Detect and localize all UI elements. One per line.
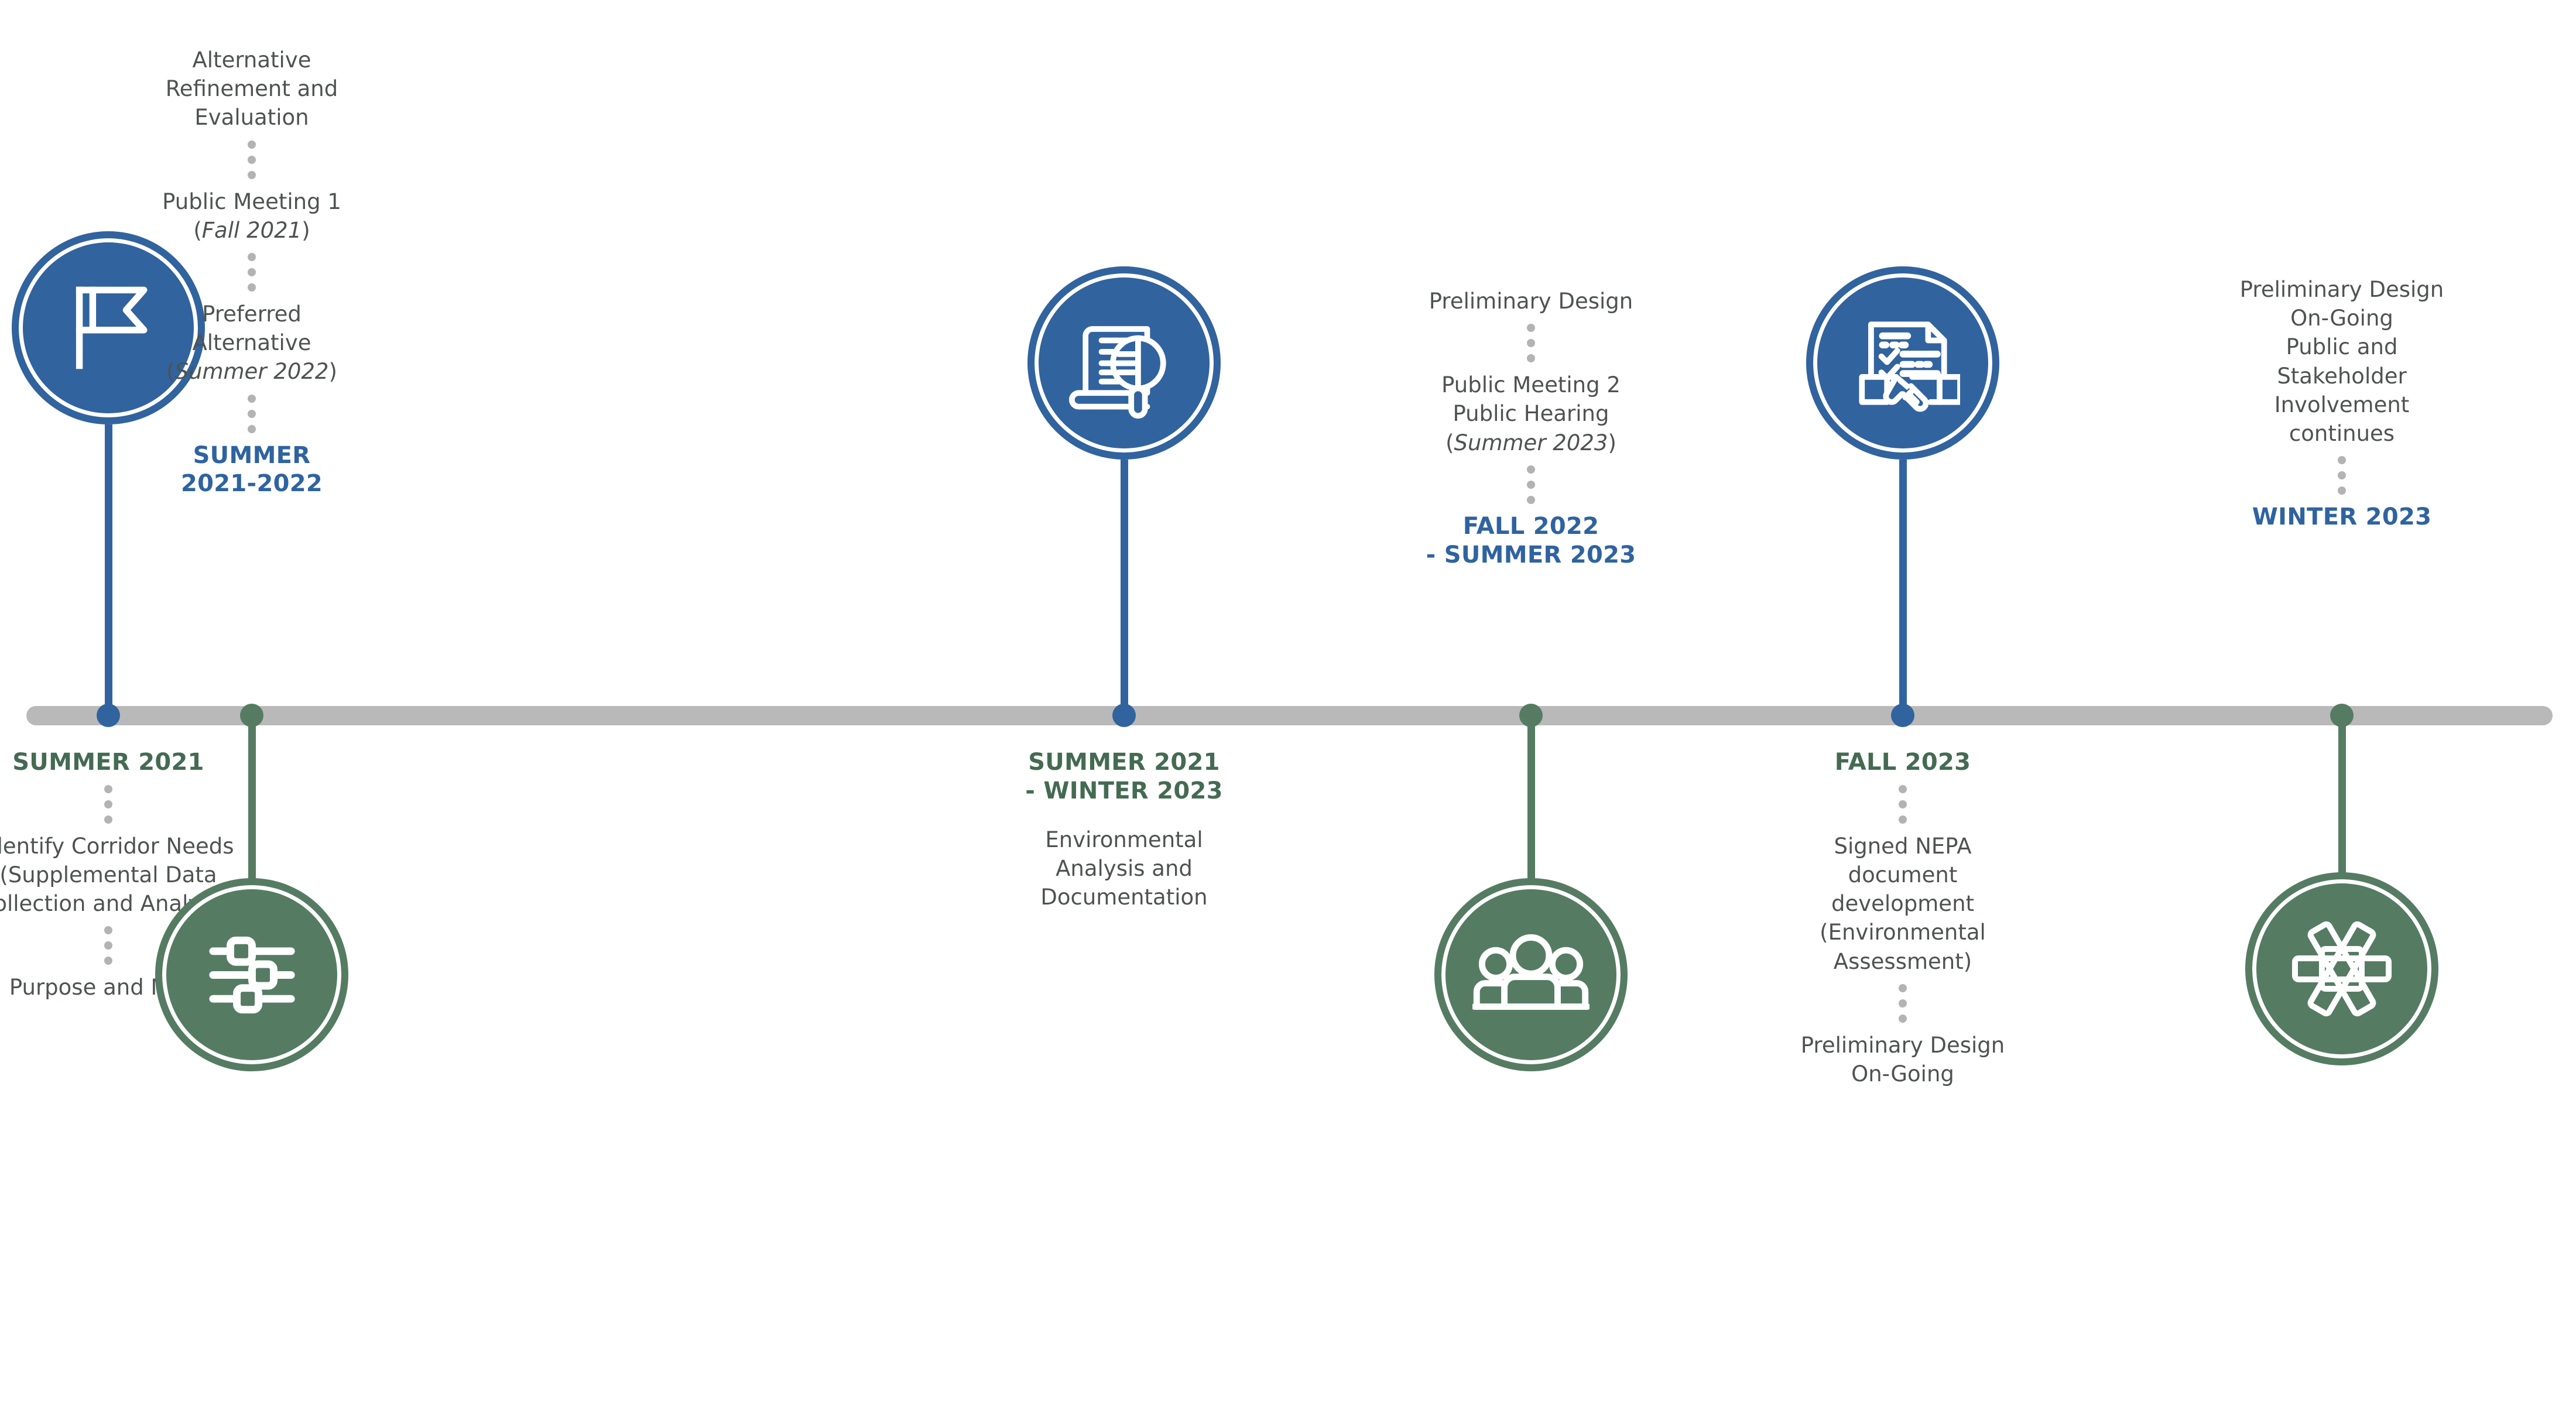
timeline-node[interactable] xyxy=(1112,704,1136,727)
pinwheel-icon xyxy=(2283,910,2400,1027)
milestone-detail: PreferredAlternative(Summer 2022) xyxy=(76,300,427,386)
milestone-detail: Signed NEPA document development (Enviro… xyxy=(1727,832,2078,976)
connector-stem xyxy=(1899,460,1907,717)
sliders-icon xyxy=(198,921,306,1029)
milestone-detail: Preliminary Design On-Going xyxy=(1727,1031,2078,1088)
milestone-detail: Environmental Analysis and Documentation xyxy=(948,825,1300,912)
milestone-winter-2023[interactable]: Preliminary Design On-Going Public and S… xyxy=(2160,0,2523,1405)
timeline-node[interactable] xyxy=(1891,704,1914,727)
milestone-fall-2023[interactable]: FALL 2023 Signed NEPA document developme… xyxy=(1721,0,2084,1405)
milestone-heading: WINTER 2023 xyxy=(2166,503,2517,532)
milestone-icon-badge[interactable] xyxy=(1027,266,1221,460)
milestone-detail: Preliminary Design xyxy=(1355,287,1707,316)
milestone-text-block: SUMMER 2021 - WINTER 2023 Environmental … xyxy=(948,748,1300,911)
dot-separator-icon xyxy=(248,395,256,433)
milestone-heading: FALL 2023 xyxy=(1727,748,2078,777)
milestone-heading: FALL 2022 - SUMMER 2023 xyxy=(1355,512,1707,570)
dot-separator-icon xyxy=(1899,984,1907,1023)
milestone-detail: Public Meeting 1(Fall 2021) xyxy=(76,187,427,245)
dot-separator-icon xyxy=(1899,785,1907,824)
dot-separator-icon xyxy=(248,253,256,292)
milestone-text-block: Preliminary Design Public Meeting 2Publi… xyxy=(1355,287,1707,569)
connector-stem xyxy=(1527,715,1535,891)
milestone-fall-2022-summer-2023[interactable]: Preliminary Design Public Meeting 2Publi… xyxy=(1349,0,1712,1405)
milestone-icon-badge[interactable] xyxy=(1806,266,1999,460)
connector-stem xyxy=(2338,715,2346,891)
dot-separator-icon xyxy=(248,140,256,179)
milestone-heading: SUMMER 2021 - WINTER 2023 xyxy=(948,748,1300,806)
milestone-icon-badge[interactable] xyxy=(2245,872,2438,1065)
milestone-text-block: FALL 2023 Signed NEPA document developme… xyxy=(1727,748,2078,1088)
milestone-detail: Alternative Refinement and Evaluation xyxy=(76,46,427,132)
milestone-icon-badge[interactable] xyxy=(155,878,348,1071)
milestone-text-block: Preliminary Design On-Going Public and S… xyxy=(2166,275,2517,532)
people-group-icon xyxy=(1472,916,1590,1033)
dot-separator-icon xyxy=(1527,465,1535,504)
dot-separator-icon xyxy=(1527,324,1535,362)
milestone-text-block: Alternative Refinement and Evaluation Pu… xyxy=(76,46,427,498)
handshake-document-icon xyxy=(1846,306,1960,420)
milestone-heading: SUMMER 2021-2022 xyxy=(76,441,427,499)
dot-separator-icon xyxy=(2338,456,2346,495)
milestone-detail: Preliminary Design On-Going Public and S… xyxy=(2166,275,2517,448)
connector-stem xyxy=(1121,460,1128,717)
milestone-icon-badge[interactable] xyxy=(1434,878,1628,1071)
connector-stem xyxy=(248,715,256,891)
milestone-summer-2021-winter-2023[interactable]: SUMMER 2021 - WINTER 2023 Environmental … xyxy=(943,0,1306,1405)
document-search-icon xyxy=(1067,306,1181,420)
milestone-summer-2021-2022[interactable]: Alternative Refinement and Evaluation Pu… xyxy=(70,0,433,1405)
milestone-detail: Public Meeting 2Public Hearing(Summer 20… xyxy=(1355,371,1707,457)
